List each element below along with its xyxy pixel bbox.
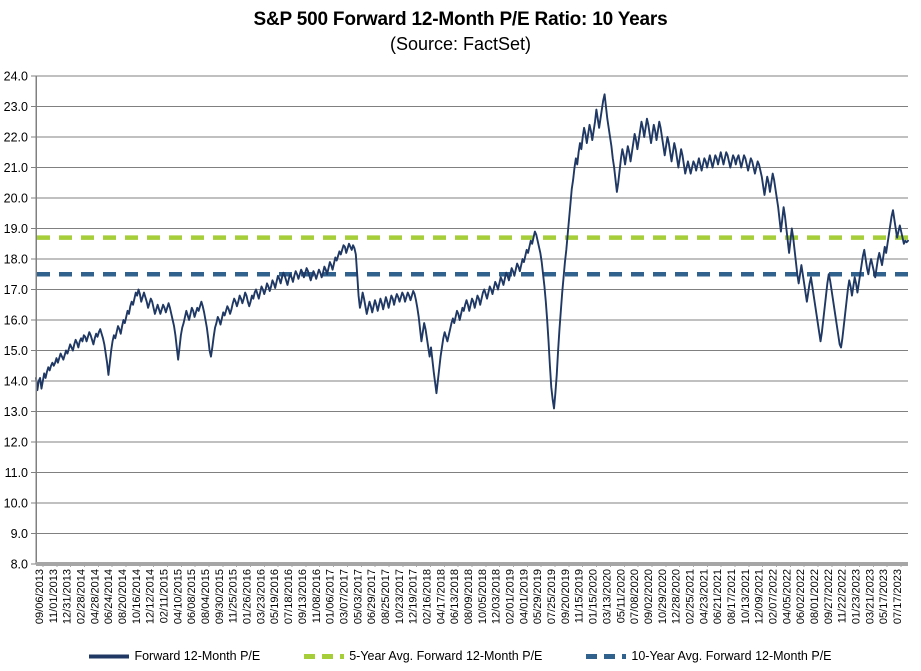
legend-label-forward-pe: Forward 12-Month P/E xyxy=(134,649,260,663)
line-chart-svg: 8.09.010.011.012.013.014.015.016.017.018… xyxy=(0,0,921,671)
svg-text:05/03/2017: 05/03/2017 xyxy=(352,569,364,624)
svg-text:09/13/2016: 09/13/2016 xyxy=(297,569,309,624)
svg-text:08/17/2021: 08/17/2021 xyxy=(726,569,738,624)
svg-text:01/23/2023: 01/23/2023 xyxy=(851,569,863,624)
svg-text:01/15/2020: 01/15/2020 xyxy=(588,569,600,624)
svg-text:06/24/2014: 06/24/2014 xyxy=(103,569,115,624)
svg-text:03/21/2023: 03/21/2023 xyxy=(864,569,876,624)
x-axis-tick-labels: 09/06/201311/01/201312/31/201302/28/2014… xyxy=(34,564,904,624)
svg-text:02/07/2022: 02/07/2022 xyxy=(768,569,780,624)
svg-text:06/08/2015: 06/08/2015 xyxy=(186,569,198,624)
svg-text:12.0: 12.0 xyxy=(4,436,28,450)
svg-text:8.0: 8.0 xyxy=(11,558,28,572)
svg-text:10/05/2018: 10/05/2018 xyxy=(477,569,489,624)
svg-text:01/26/2016: 01/26/2016 xyxy=(242,569,254,624)
svg-text:18.0: 18.0 xyxy=(4,253,28,267)
svg-text:11/25/2015: 11/25/2015 xyxy=(228,569,240,623)
gridlines xyxy=(36,76,908,534)
svg-text:11.0: 11.0 xyxy=(5,466,28,480)
svg-text:15.0: 15.0 xyxy=(4,344,28,358)
svg-text:03/07/2017: 03/07/2017 xyxy=(338,569,350,624)
svg-text:10/23/2017: 10/23/2017 xyxy=(394,569,406,624)
svg-text:11/15/2019: 11/15/2019 xyxy=(574,569,586,623)
legend-item: 10-Year Avg. Forward 12-Month P/E xyxy=(586,649,831,663)
svg-text:22.0: 22.0 xyxy=(4,131,28,145)
svg-text:12/09/2021: 12/09/2021 xyxy=(754,569,766,624)
svg-text:11/08/2016: 11/08/2016 xyxy=(311,569,323,623)
svg-text:05/11/2020: 05/11/2020 xyxy=(615,569,627,623)
svg-text:08/09/2018: 08/09/2018 xyxy=(463,569,475,624)
svg-text:01/06/2017: 01/06/2017 xyxy=(325,569,337,624)
legend-swatch-5yr-avg xyxy=(304,651,344,662)
plot-area: 8.09.010.011.012.013.014.015.016.017.018… xyxy=(0,0,921,671)
svg-text:10.0: 10.0 xyxy=(4,497,28,511)
chart-container: S&P 500 Forward 12-Month P/E Ratio: 10 Y… xyxy=(0,0,921,671)
svg-text:02/01/2019: 02/01/2019 xyxy=(505,569,517,624)
svg-text:12/31/2013: 12/31/2013 xyxy=(62,569,74,624)
svg-text:02/25/2021: 02/25/2021 xyxy=(684,569,696,624)
svg-text:06/21/2021: 06/21/2021 xyxy=(712,569,724,624)
legend-label-5yr-avg: 5-Year Avg. Forward 12-Month P/E xyxy=(349,649,542,663)
svg-text:08/25/2017: 08/25/2017 xyxy=(380,569,392,624)
svg-text:10/13/2021: 10/13/2021 xyxy=(740,569,752,624)
legend-item: Forward 12-Month P/E xyxy=(89,649,260,663)
svg-text:11/22/2022: 11/22/2022 xyxy=(837,569,849,623)
svg-text:06/29/2017: 06/29/2017 xyxy=(366,569,378,624)
svg-text:03/23/2016: 03/23/2016 xyxy=(255,569,267,624)
svg-text:08/20/2014: 08/20/2014 xyxy=(117,569,129,624)
svg-text:09/27/2022: 09/27/2022 xyxy=(823,569,835,624)
svg-text:04/17/2018: 04/17/2018 xyxy=(435,569,447,624)
svg-text:02/11/2015: 02/11/2015 xyxy=(158,569,170,623)
svg-text:07/25/2019: 07/25/2019 xyxy=(546,569,558,624)
svg-text:03/13/2020: 03/13/2020 xyxy=(601,569,613,624)
legend-swatch-forward-pe xyxy=(89,651,129,662)
svg-text:16.0: 16.0 xyxy=(4,314,28,328)
svg-text:08/01/2022: 08/01/2022 xyxy=(809,569,821,624)
svg-text:05/17/2023: 05/17/2023 xyxy=(878,569,890,624)
svg-text:07/18/2016: 07/18/2016 xyxy=(283,569,295,624)
svg-text:07/08/2020: 07/08/2020 xyxy=(629,569,641,624)
svg-text:21.0: 21.0 xyxy=(4,161,28,175)
svg-text:9.0: 9.0 xyxy=(11,527,28,541)
svg-text:05/19/2016: 05/19/2016 xyxy=(269,569,281,624)
y-axis-tick-labels: 8.09.010.011.012.013.014.015.016.017.018… xyxy=(4,70,36,572)
svg-text:24.0: 24.0 xyxy=(4,70,28,84)
reference-lines xyxy=(37,238,908,275)
svg-text:10/16/2014: 10/16/2014 xyxy=(131,569,143,624)
svg-text:12/19/2017: 12/19/2017 xyxy=(408,569,420,624)
svg-text:06/13/2018: 06/13/2018 xyxy=(449,569,461,624)
svg-text:09/30/2015: 09/30/2015 xyxy=(214,569,226,624)
svg-text:05/29/2019: 05/29/2019 xyxy=(532,569,544,624)
svg-text:09/02/2020: 09/02/2020 xyxy=(643,569,655,624)
svg-text:17.0: 17.0 xyxy=(4,283,28,297)
svg-text:19.0: 19.0 xyxy=(4,222,28,236)
svg-text:13.0: 13.0 xyxy=(4,405,28,419)
svg-text:14.0: 14.0 xyxy=(4,375,28,389)
svg-text:10/29/2020: 10/29/2020 xyxy=(657,569,669,624)
data-series xyxy=(36,94,908,408)
svg-text:04/23/2021: 04/23/2021 xyxy=(698,569,710,624)
svg-text:02/16/2018: 02/16/2018 xyxy=(421,569,433,624)
svg-text:23.0: 23.0 xyxy=(4,100,28,114)
svg-text:09/20/2019: 09/20/2019 xyxy=(560,569,572,624)
svg-text:20.0: 20.0 xyxy=(4,192,28,206)
svg-text:04/01/2019: 04/01/2019 xyxy=(518,569,530,624)
legend-label-10yr-avg: 10-Year Avg. Forward 12-Month P/E xyxy=(631,649,831,663)
svg-text:07/17/2023: 07/17/2023 xyxy=(892,569,904,624)
svg-text:04/05/2022: 04/05/2022 xyxy=(781,569,793,624)
svg-text:04/10/2015: 04/10/2015 xyxy=(172,569,184,624)
svg-text:11/01/2013: 11/01/2013 xyxy=(48,569,60,623)
svg-text:12/28/2020: 12/28/2020 xyxy=(671,569,683,624)
svg-text:09/06/2013: 09/06/2013 xyxy=(34,569,46,624)
chart-legend: Forward 12-Month P/E 5-Year Avg. Forward… xyxy=(0,642,921,670)
svg-text:08/04/2015: 08/04/2015 xyxy=(200,569,212,624)
svg-text:12/03/2018: 12/03/2018 xyxy=(491,569,503,624)
svg-text:04/28/2014: 04/28/2014 xyxy=(89,569,101,624)
legend-swatch-10yr-avg xyxy=(586,651,626,662)
svg-text:12/12/2014: 12/12/2014 xyxy=(145,569,157,624)
legend-item: 5-Year Avg. Forward 12-Month P/E xyxy=(304,649,542,663)
svg-text:02/28/2014: 02/28/2014 xyxy=(75,569,87,624)
svg-text:06/02/2022: 06/02/2022 xyxy=(795,569,807,624)
